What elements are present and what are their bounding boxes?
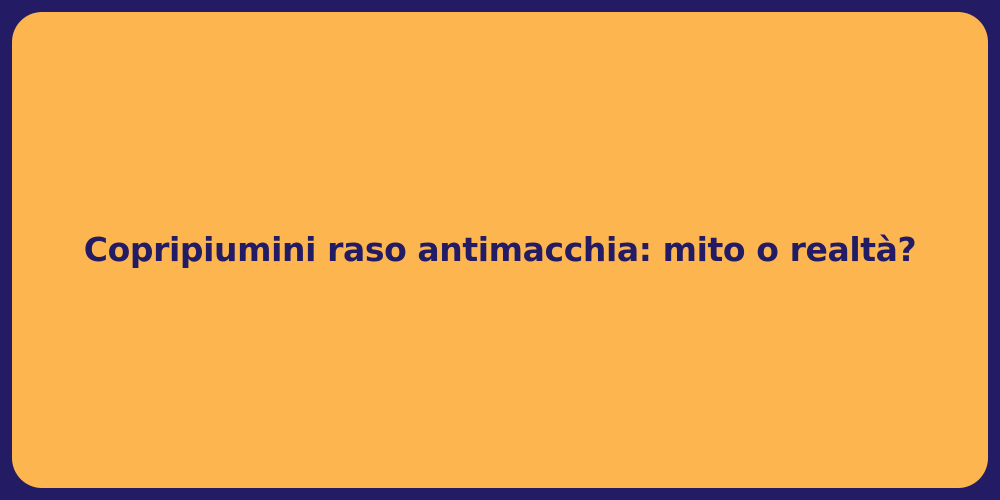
page-title: Copripiumini raso antimacchia: mito o re… — [52, 229, 948, 270]
page-background: Copripiumini raso antimacchia: mito o re… — [0, 0, 1000, 500]
headline-container: Copripiumini raso antimacchia: mito o re… — [12, 229, 988, 270]
headline-card: Copripiumini raso antimacchia: mito o re… — [12, 12, 988, 488]
